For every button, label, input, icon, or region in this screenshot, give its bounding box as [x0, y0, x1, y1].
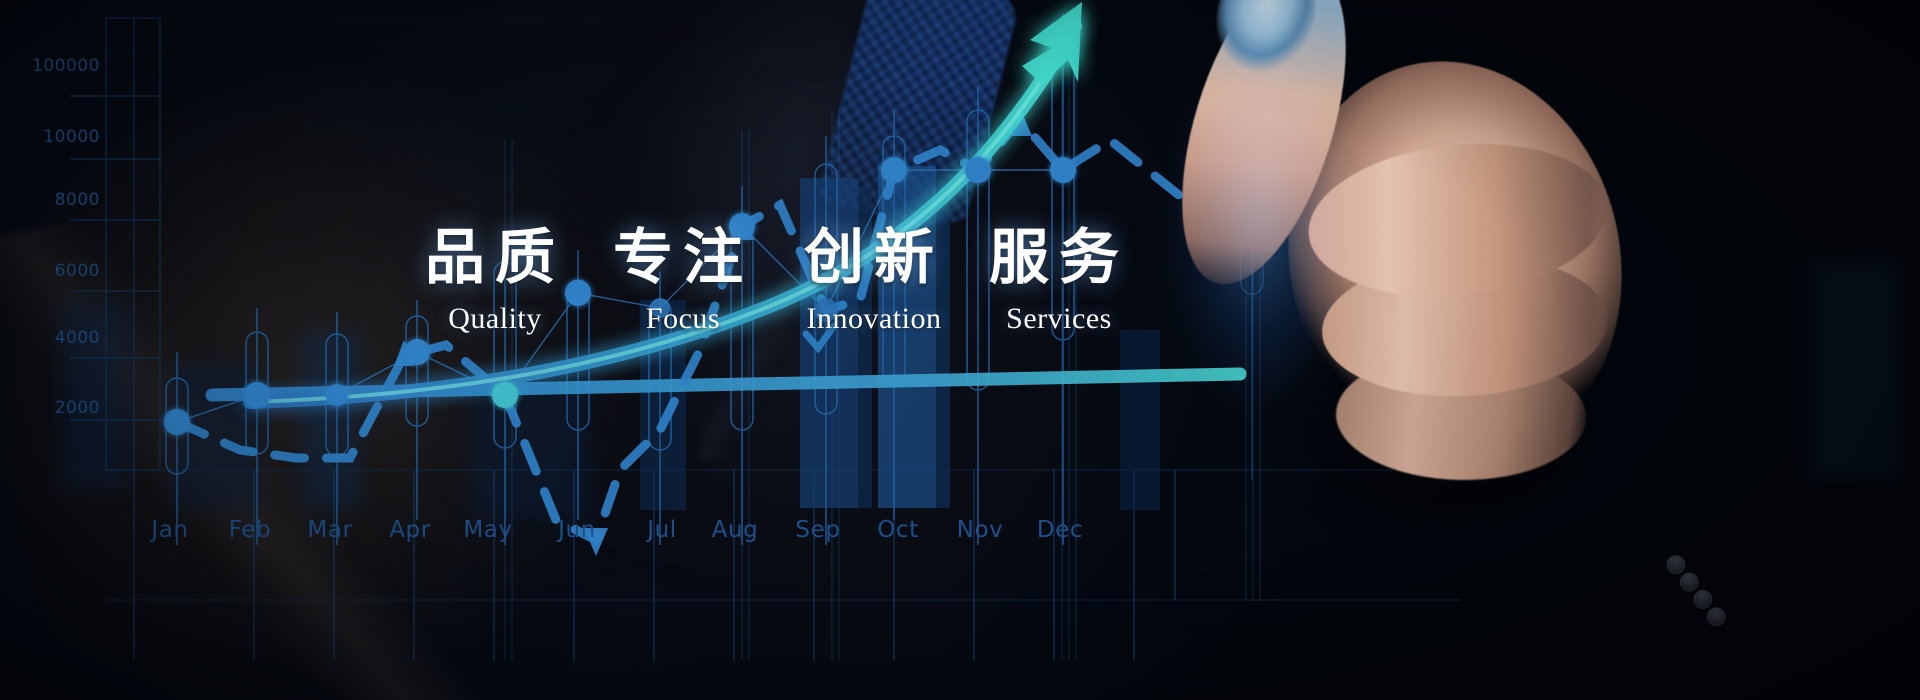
slogan-en-innovation: Innovation	[784, 304, 964, 334]
slogan-en-quality: Quality	[405, 304, 585, 334]
slogan-cn-innovation: 创新	[784, 228, 964, 288]
slogan-cn-focus: 专注	[593, 228, 773, 288]
slogan-group: 品质 Quality 专注 Focus 创新 Innovation 服务 Ser…	[0, 0, 1920, 700]
slogan-services: 服务 Services	[969, 228, 1149, 334]
slogan-en-focus: Focus	[593, 304, 773, 334]
slogan-en-services: Services	[969, 304, 1149, 334]
slogan-quality: 品质 Quality	[405, 228, 585, 334]
slogan-innovation: 创新 Innovation	[784, 228, 964, 334]
slogan-cn-services: 服务	[969, 228, 1149, 288]
hero-banner: 100000 10000 8000 6000 4000 2000 Jan Feb…	[0, 0, 1920, 700]
slogan-focus: 专注 Focus	[593, 228, 773, 334]
slogan-cn-quality: 品质	[405, 228, 585, 288]
